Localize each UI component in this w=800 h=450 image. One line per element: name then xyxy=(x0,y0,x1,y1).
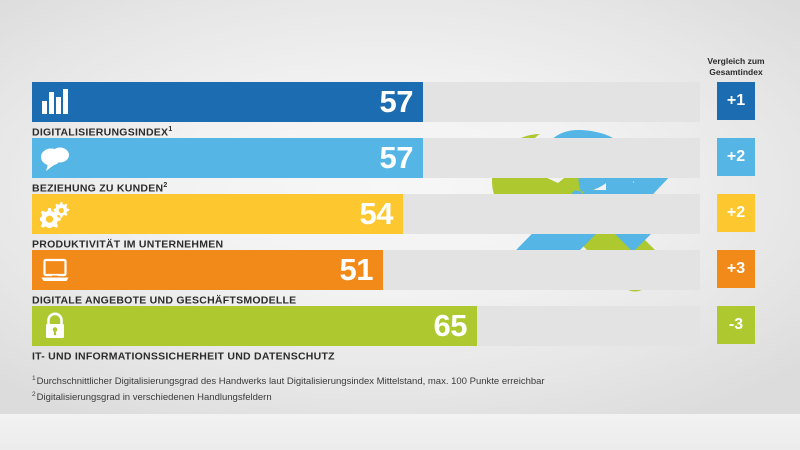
status-badge-it-sicherheit: -3 xyxy=(717,306,755,344)
compare-column-header: Vergleich zum Gesamtindex xyxy=(694,56,778,78)
footnote-1-marker: 1 xyxy=(32,375,36,382)
bar-value: 65 xyxy=(434,310,467,341)
row-label-text: DIGITALE ANGEBOTE UND GESCHÄFTSMODELLE xyxy=(32,295,296,307)
bar-value: 57 xyxy=(380,142,413,173)
row-label-produktivitaet: PRODUKTIVITÄT IM UNTERNEHMEN xyxy=(32,238,223,251)
row-label-digitalisierungsindex: DIGITALISIERUNGSINDEX1 xyxy=(32,126,172,139)
compare-header-line2: Gesamtindex xyxy=(694,67,778,78)
footnote-1: 1Durchschnittlicher Digitalisierungsgrad… xyxy=(32,374,672,390)
bar-fill-it-sicherheit: 65 xyxy=(32,306,477,346)
row-label-it-sicherheit: IT- UND INFORMATIONSSICHERHEIT UND DATEN… xyxy=(32,350,335,363)
compare-header-line1: Vergleich zum xyxy=(694,56,778,67)
footnotes-block: 1Durchschnittlicher Digitalisierungsgrad… xyxy=(32,374,672,406)
footnote-1-text: Durchschnittlicher Digitalisierungsgrad … xyxy=(37,376,545,387)
row-label-text: IT- UND INFORMATIONSSICHERHEIT UND DATEN… xyxy=(32,351,335,363)
footnote-2: 2Digitalisierungsgrad in verschiedenen H… xyxy=(32,390,672,406)
status-badge-produktivitaet: +2 xyxy=(717,194,755,232)
row-label-text: BEZIEHUNG ZU KUNDEN xyxy=(32,183,163,195)
bar-fill-digitale-angebote: 51 xyxy=(32,250,383,290)
bar-value: 51 xyxy=(340,254,373,285)
bar-chart-icon xyxy=(40,88,70,116)
bar-fill-produktivitaet: 54 xyxy=(32,194,403,234)
padlock-icon xyxy=(40,312,70,340)
status-badge-digitalisierungsindex: +1 xyxy=(717,82,755,120)
bar-value: 57 xyxy=(380,86,413,117)
gears-icon xyxy=(40,200,70,228)
row-label-beziehung-zu-kunden: BEZIEHUNG ZU KUNDEN2 xyxy=(32,182,168,195)
status-badge-beziehung-zu-kunden: +2 xyxy=(717,138,755,176)
footnote-marker: 2 xyxy=(163,182,167,189)
speech-bubbles-icon xyxy=(40,144,70,172)
status-badge-digitale-angebote: +3 xyxy=(717,250,755,288)
bar-fill-beziehung-zu-kunden: 57 xyxy=(32,138,423,178)
laptop-icon xyxy=(40,256,70,284)
row-label-digitale-angebote: DIGITALE ANGEBOTE UND GESCHÄFTSMODELLE xyxy=(32,294,296,307)
bar-fill-digitalisierungsindex: 57 xyxy=(32,82,423,122)
footnote-marker: 1 xyxy=(168,126,172,133)
footnote-2-text: Digitalisierungsgrad in verschiedenen Ha… xyxy=(37,392,272,403)
infographic-canvas: 57 DIGITALISIERUNGSINDEX1 57 BEZIEHUN xyxy=(0,0,800,450)
footnote-2-marker: 2 xyxy=(32,391,36,398)
row-label-text: PRODUKTIVITÄT IM UNTERNEHMEN xyxy=(32,239,223,251)
row-label-text: DIGITALISIERUNGSINDEX xyxy=(32,127,168,139)
bar-value: 54 xyxy=(360,198,393,229)
